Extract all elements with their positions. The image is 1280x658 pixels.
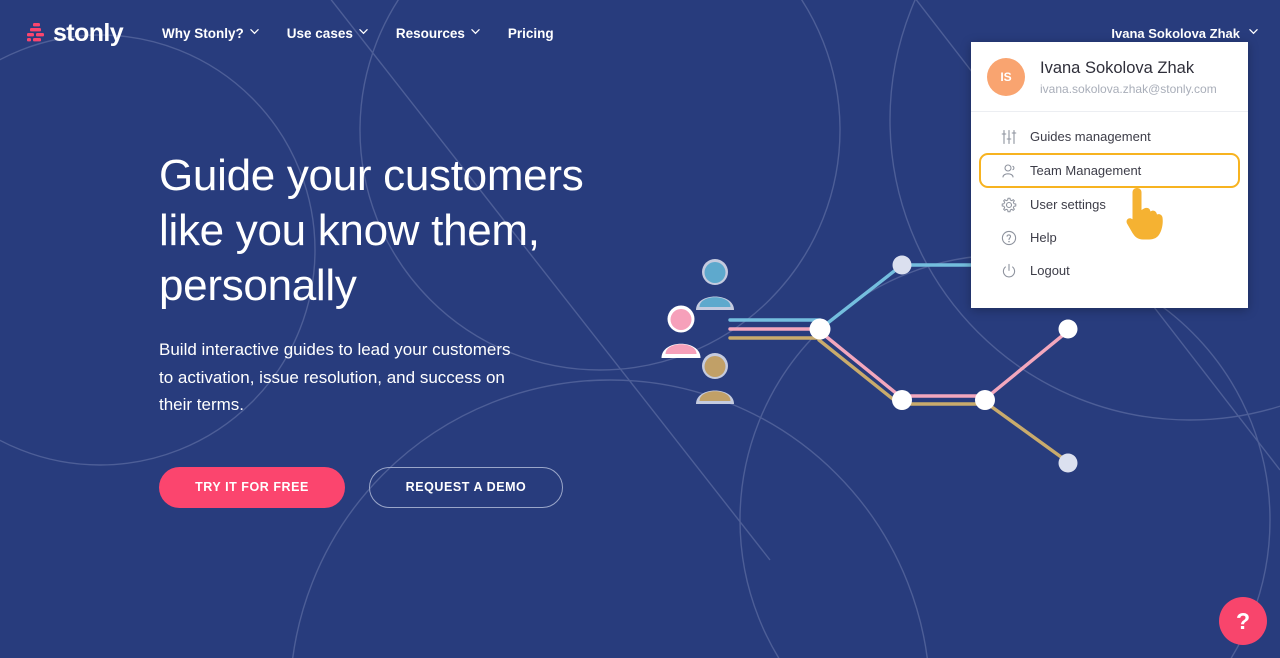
nav-link-resources[interactable]: Resources bbox=[382, 20, 494, 47]
request-a-demo-button[interactable]: REQUEST A DEMO bbox=[369, 467, 563, 508]
power-icon bbox=[1001, 263, 1017, 279]
pointing-hand-cursor-icon bbox=[1124, 186, 1168, 242]
user-person-icon bbox=[1001, 163, 1017, 179]
menu-item-label: Team Management bbox=[1030, 163, 1141, 178]
hero-heading-line-3: personally bbox=[159, 261, 357, 310]
avatar: IS bbox=[987, 58, 1025, 96]
menu-item-label: Guides management bbox=[1030, 129, 1151, 144]
page-title: Guide your customers like you know them,… bbox=[159, 148, 719, 313]
chevron-down-icon bbox=[250, 27, 259, 36]
hero-heading-line-2: like you know them, bbox=[159, 206, 540, 255]
menu-item-guides-management[interactable]: Guides management bbox=[979, 120, 1240, 153]
primary-nav-links: Why Stonly? Use cases Resources Pricing bbox=[148, 20, 568, 47]
account-menu-list: Guides management Team Management User s… bbox=[971, 112, 1248, 287]
nav-link-label: Resources bbox=[396, 26, 465, 41]
question-mark-icon: ? bbox=[1236, 608, 1250, 635]
account-dropdown-menu: IS Ivana Sokolova Zhak ivana.sokolova.zh… bbox=[971, 42, 1248, 308]
hero-heading-line-1: Guide your customers bbox=[159, 151, 583, 200]
nav-link-label: Use cases bbox=[287, 26, 353, 41]
nav-link-use-cases[interactable]: Use cases bbox=[273, 20, 382, 47]
nav-right-section: Ivana Sokolova Zhak bbox=[1111, 26, 1258, 41]
nav-link-label: Pricing bbox=[508, 26, 554, 41]
hero-cta-row: TRY IT FOR FREE REQUEST A DEMO bbox=[159, 467, 719, 508]
hero-section: Guide your customers like you know them,… bbox=[159, 148, 719, 508]
nav-link-label: Why Stonly? bbox=[162, 26, 244, 41]
menu-item-help[interactable]: Help bbox=[979, 221, 1240, 254]
account-email: ivana.sokolova.zhak@stonly.com bbox=[1040, 82, 1217, 96]
menu-item-label: Help bbox=[1030, 230, 1057, 245]
menu-item-label: Logout bbox=[1030, 263, 1070, 278]
chevron-down-icon bbox=[1249, 27, 1258, 36]
account-name: Ivana Sokolova Zhak bbox=[1040, 58, 1217, 78]
nav-link-pricing[interactable]: Pricing bbox=[494, 20, 568, 47]
nav-link-why-stonly[interactable]: Why Stonly? bbox=[148, 20, 273, 47]
menu-item-logout[interactable]: Logout bbox=[979, 254, 1240, 287]
hero-subtext: Build interactive guides to lead your cu… bbox=[159, 336, 529, 419]
brand-logo[interactable]: stonly bbox=[26, 19, 123, 48]
user-menu-trigger[interactable]: Ivana Sokolova Zhak bbox=[1111, 26, 1258, 41]
stonly-logo-icon bbox=[26, 22, 46, 44]
question-circle-icon bbox=[1001, 230, 1017, 246]
gear-icon bbox=[1001, 197, 1017, 213]
menu-item-user-settings[interactable]: User settings bbox=[979, 188, 1240, 221]
menu-item-team-management[interactable]: Team Management bbox=[979, 153, 1240, 188]
account-menu-header: IS Ivana Sokolova Zhak ivana.sokolova.zh… bbox=[971, 42, 1248, 112]
chevron-down-icon bbox=[359, 27, 368, 36]
try-it-for-free-button[interactable]: TRY IT FOR FREE bbox=[159, 467, 345, 508]
brand-name: stonly bbox=[53, 19, 123, 48]
menu-item-label: User settings bbox=[1030, 197, 1106, 212]
user-menu-label: Ivana Sokolova Zhak bbox=[1111, 26, 1240, 41]
chevron-down-icon bbox=[471, 27, 480, 36]
sliders-icon bbox=[1001, 129, 1017, 145]
help-floating-button[interactable]: ? bbox=[1219, 597, 1267, 645]
